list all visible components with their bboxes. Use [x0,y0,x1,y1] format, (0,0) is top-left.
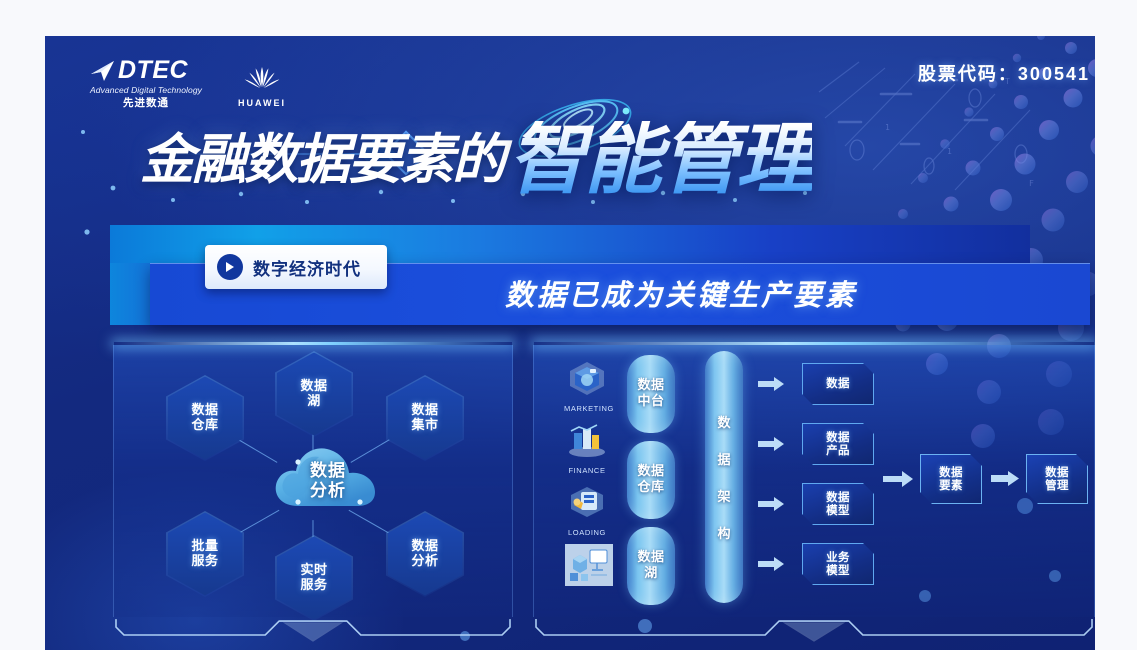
title-lead-text: 金融数据要素的 [140,133,504,187]
presentation-slide: 11T F [45,36,1095,650]
finance-chart-icon [565,421,609,459]
output-data-product[interactable]: 数据产品 [802,423,874,465]
left-diagram-panel: 数据仓库 数据湖 数据集市 批量服务 实时服务 数据分析 [113,345,513,617]
arrow-right-icon [758,377,784,391]
dtec-logo: DTEC Advanced Digital Technology 先进数通 [90,58,202,108]
output-data-model[interactable]: 数据模型 [802,483,874,525]
section-headline: 数据已成为关键生产要素 [505,272,857,314]
source-label: FINANCE [564,466,610,475]
arrow-right-icon [758,557,784,571]
architecture-char: 架 [717,486,730,505]
huawei-wordmark: HUAWEI [238,98,286,108]
source-label: LOADING [564,528,610,537]
output-label: 业务模型 [826,551,850,577]
hex-node-label: 实时服务 [300,563,327,594]
huawei-flower-icon [242,65,282,91]
dtec-tagline: Advanced Digital Technology [90,86,202,95]
source-data-screen[interactable] [564,543,614,594]
source-finance[interactable]: FINANCE [564,421,610,475]
loading-storage-icon [565,483,609,521]
arrow-right-icon [883,471,913,487]
output-label: 数据 [826,377,850,390]
dtec-mark-icon [90,60,116,82]
data-architecture-capsule[interactable]: 数 据 架 构 [705,351,743,603]
platform-label: 数据仓库 [637,464,664,495]
brand-logo-row: DTEC Advanced Digital Technology 先进数通 HU… [90,58,286,108]
hex-node-data-mart[interactable]: 数据集市 [386,375,464,461]
section-tag-label: 数字经济时代 [253,255,361,280]
hex-node-realtime-service[interactable]: 实时服务 [275,535,353,621]
section-tag-chip[interactable]: 数字经济时代 [205,245,387,289]
stage-data-element[interactable]: 数据要素 [920,454,982,504]
architecture-char: 构 [717,523,730,542]
platform-data-midend[interactable]: 数据中台 [627,355,675,433]
right-panel-footer-chevron [534,615,1094,649]
hex-node-label: 数据湖 [300,379,327,410]
stage-label: 数据管理 [1045,466,1069,492]
right-flow-panel: MARKETING FINANCE LOADING [533,345,1095,617]
output-data[interactable]: 数据 [802,363,874,405]
left-panel-footer-chevron [114,615,512,649]
output-business-model[interactable]: 业务模型 [802,543,874,585]
center-cloud-label: 数据分析 [268,462,388,501]
hex-node-label: 数据分析 [411,539,438,570]
source-loading[interactable]: LOADING [564,483,610,537]
source-label: MARKETING [564,404,610,413]
hex-node-label: 批量服务 [191,539,218,570]
platform-label: 数据湖 [637,550,664,581]
output-label: 数据模型 [826,491,850,517]
platform-data-lake[interactable]: 数据湖 [627,527,675,605]
platform-data-warehouse[interactable]: 数据仓库 [627,441,675,519]
stage-data-governance[interactable]: 数据管理 [1026,454,1088,504]
play-icon [217,254,243,280]
huawei-logo: HUAWEI [238,65,286,108]
dtec-wordmark: DTEC [118,58,188,83]
hex-node-data-analysis[interactable]: 数据分析 [386,511,464,597]
hex-node-label: 数据仓库 [191,403,218,434]
center-cloud-node[interactable]: 数据分析 [268,436,388,520]
hex-node-data-warehouse[interactable]: 数据仓库 [166,375,244,461]
title-emphasis-text: 智能管理 [508,121,812,199]
source-marketing[interactable]: MARKETING [564,359,610,413]
architecture-char: 数 [717,412,730,431]
data-screen-icon [564,543,614,587]
hex-node-data-lake[interactable]: 数据湖 [275,351,353,437]
section-banner: 数字经济时代 数据已成为关键生产要素 [110,225,1095,339]
output-label: 数据产品 [826,431,850,457]
arrow-right-icon [991,471,1019,486]
hex-node-label: 数据集市 [411,403,438,434]
architecture-char: 据 [717,449,730,468]
stage-label: 数据要素 [939,466,963,492]
page-title: 金融数据要素的 智能管理 [140,115,1095,205]
platform-label: 数据中台 [637,378,664,409]
marketing-cube-icon [565,359,609,397]
hex-node-batch-service[interactable]: 批量服务 [166,511,244,597]
dtec-chinese-name: 先进数通 [90,98,202,109]
stock-code-label: 股票代码：300541 [918,60,1090,86]
arrow-right-icon [758,437,784,451]
arrow-right-icon [758,497,784,511]
